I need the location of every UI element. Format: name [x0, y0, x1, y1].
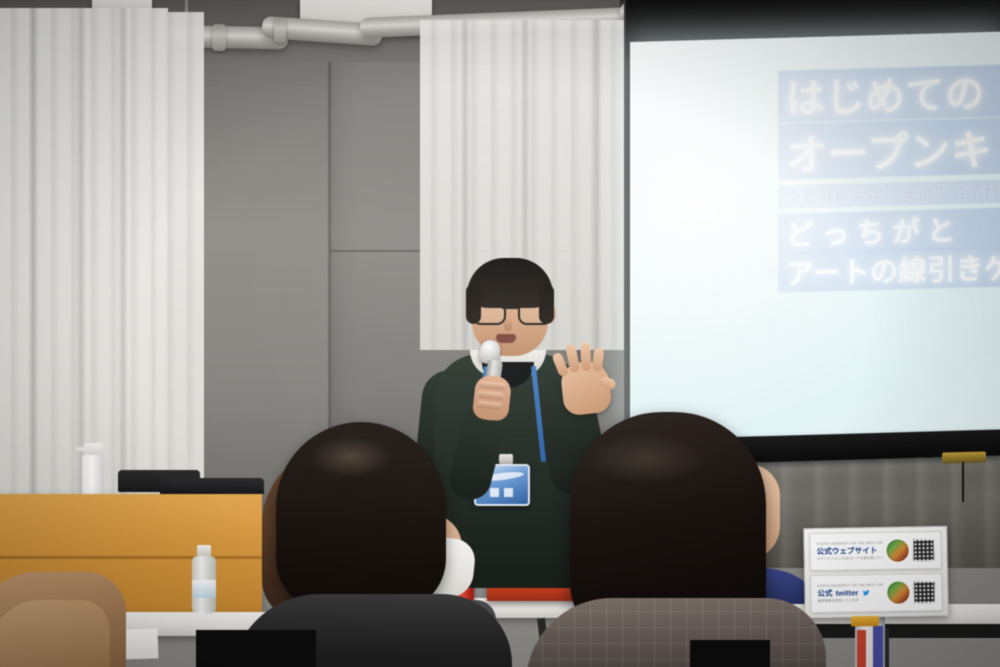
finger — [477, 401, 503, 411]
audience-member-partial — [0, 600, 110, 667]
qr-code-icon[interactable] — [913, 581, 935, 603]
duct-collar — [274, 17, 286, 43]
white-curtain — [156, 12, 204, 512]
presenter-hair-side — [539, 284, 554, 324]
finger — [477, 390, 505, 400]
audience-hair-highlight — [586, 434, 706, 484]
profile-thumbnail-icon — [887, 581, 909, 603]
audience-plaid-jacket — [526, 598, 826, 667]
presentation-slide: はじめての オープンキ 京都芸術大学 美術工芸学科 ア どっちがと アートの線引… — [630, 32, 1000, 452]
slide-title-line-1: はじめての — [778, 62, 1000, 123]
lecture-room-photo: はじめての オープンキ 京都芸術大学 美術工芸学科 ア どっちがと アートの線引… — [0, 0, 1000, 667]
thumb — [598, 375, 617, 391]
presenter-hair-side — [466, 284, 481, 324]
sign-heading-twitter-brand: twitter — [835, 588, 858, 599]
bottle-label-stripe — [857, 630, 866, 667]
bottle-label — [192, 580, 216, 598]
audience-member-long-hair — [540, 412, 830, 667]
slide-body-line-2: アートの線引きゲ — [778, 244, 1000, 293]
foreground-shadow — [196, 630, 316, 667]
desk-seam — [0, 556, 262, 559]
finger — [580, 343, 591, 371]
water-bottle[interactable] — [192, 556, 216, 614]
curtain-fold — [118, 8, 128, 528]
bottle-label-stripe — [873, 626, 883, 667]
qr-code-icon[interactable] — [912, 539, 934, 561]
duct-collar — [212, 24, 226, 51]
hand-sanitizer-bottle[interactable] — [82, 455, 104, 497]
screen-pull-cord[interactable] — [962, 462, 964, 502]
screen-surface: はじめての オープンキ 京都芸術大学 美術工芸学科 ア どっちがと アートの線引… — [630, 32, 1000, 452]
presenter-mouth — [496, 334, 516, 343]
presenter-left-hand — [472, 374, 512, 422]
profile-thumbnail-icon — [886, 539, 908, 561]
curtain-fold — [28, 8, 38, 528]
foreground-shadow — [690, 640, 770, 667]
presenter-right-hand — [559, 360, 612, 417]
audience-hair-highlight — [310, 436, 392, 478]
sign-stand-foot — [851, 616, 879, 626]
bottle-cap — [197, 545, 211, 556]
finger — [592, 347, 604, 372]
twitter-bird-icon — [861, 589, 870, 597]
finger — [478, 381, 507, 391]
slide-body-line-1: どっちがと — [778, 205, 1000, 254]
slide-subtitle: 京都芸術大学 美術工芸学科 ア — [778, 177, 1000, 209]
screen-pull-handle[interactable] — [942, 451, 986, 463]
slide-title-line-2: オープンキ — [778, 115, 1000, 180]
